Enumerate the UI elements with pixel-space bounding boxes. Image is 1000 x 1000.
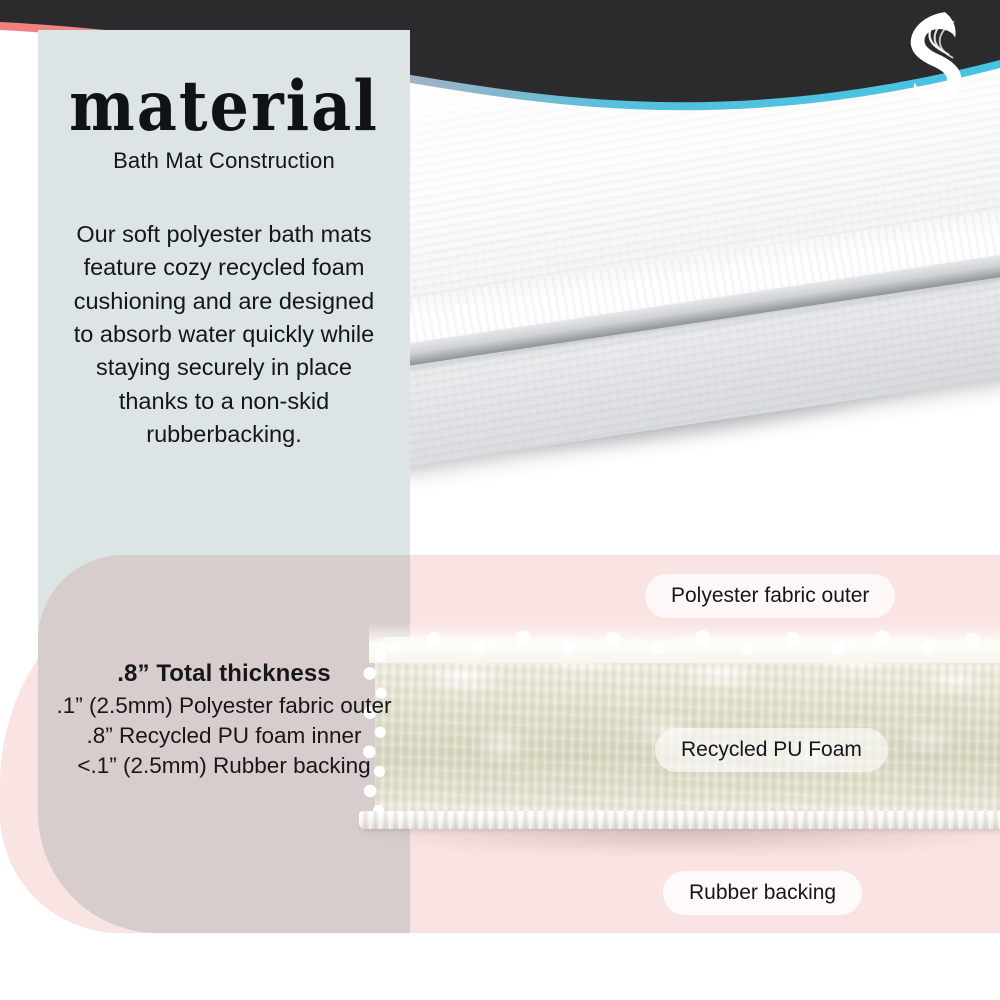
spec-total-thickness: .8” Total thickness [38,660,410,688]
foam-texture [375,637,1000,817]
page-title: material [54,72,394,141]
spec-line-outer: .1” (2.5mm) Polyester fabric outer [38,691,410,721]
callout-polyester-fabric-outer: Polyester fabric outer [645,574,895,618]
rubber-backing-texture [359,811,1000,829]
description-paragraph: Our soft polyester bath mats feature coz… [62,218,386,452]
callout-rubber-backing: Rubber backing [663,871,862,915]
thickness-specs: .8” Total thickness .1” (2.5mm) Polyeste… [38,660,410,781]
spec-line-foam: .8” Recycled PU foam inner [38,721,410,751]
fabric-top-layer [369,623,1000,663]
page-subtitle: Bath Mat Construction [54,148,394,174]
left-info-panel: material Bath Mat Construction Our soft … [38,30,410,640]
spec-line-rubber: <.1” (2.5mm) Rubber backing [38,751,410,781]
callout-recycled-pu-foam: Recycled PU Foam [655,728,888,772]
infographic-canvas: material Bath Mat Construction Our soft … [0,0,1000,1000]
